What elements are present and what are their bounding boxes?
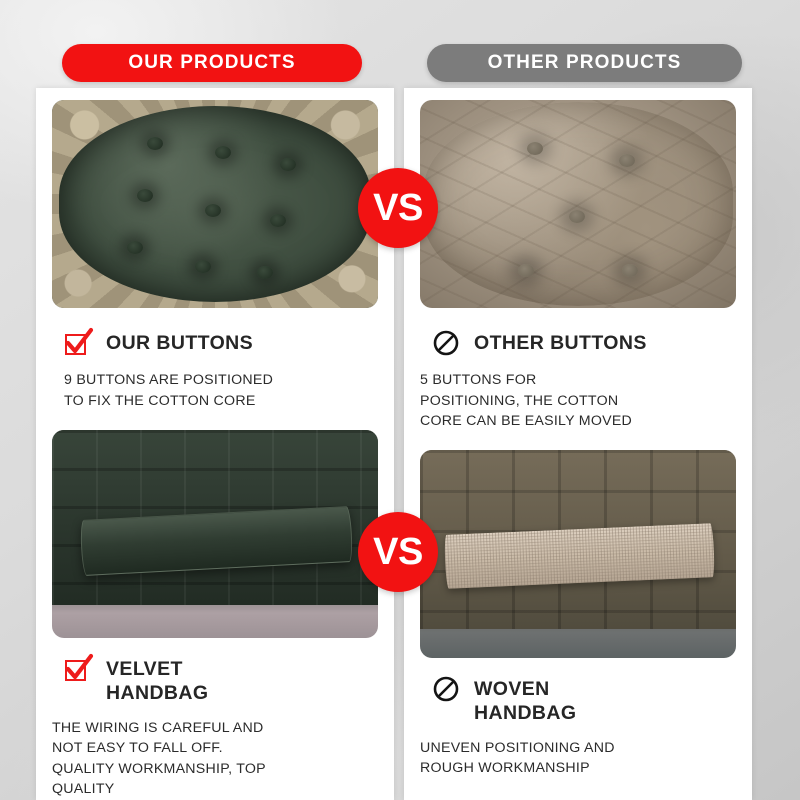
other-buttons-photo: [420, 100, 736, 308]
velvet-handbag-heading: VELVET HANDBAG: [52, 654, 378, 706]
fabric-creases: [420, 100, 736, 308]
checkbox-checked-icon: [64, 328, 94, 358]
vs-badge-bottom: VS: [358, 512, 438, 592]
woven-handbag-block: WOVEN HANDBAG UNEVEN POSITIONING AND ROU…: [420, 450, 736, 779]
our-buttons-description: 9 BUTTONS ARE POSITIONED TO FIX THE COTT…: [52, 370, 378, 411]
tuft-button-icon: [569, 210, 585, 223]
velvet-handbag-photo: [52, 430, 378, 638]
other-products-badge: OTHER PRODUCTS: [427, 44, 742, 82]
other-buttons-title: OTHER BUTTONS: [474, 328, 647, 356]
velvet-handbag-block: VELVET HANDBAG THE WIRING IS CAREFUL AND…: [52, 430, 378, 800]
other-buttons-description: 5 BUTTONS FOR POSITIONING, THE COTTON CO…: [420, 370, 736, 432]
velvet-handbag-title: VELVET HANDBAG: [106, 654, 208, 706]
other-buttons-heading: OTHER BUTTONS: [420, 328, 736, 358]
woven-handbag-photo: [420, 450, 736, 658]
woven-handbag-title: WOVEN HANDBAG: [474, 674, 576, 726]
prohibited-icon: [432, 328, 462, 358]
tuft-button-icon: [215, 146, 231, 159]
other-buttons-block: OTHER BUTTONS 5 BUTTONS FOR POSITIONING,…: [420, 100, 736, 450]
our-products-badge: OUR PRODUCTS: [62, 44, 362, 82]
woven-handbag-description: UNEVEN POSITIONING AND ROUGH WORKMANSHIP: [420, 738, 736, 779]
our-buttons-heading: OUR BUTTONS: [52, 328, 378, 358]
tuft-button-icon: [147, 137, 163, 150]
woven-handbag-heading: WOVEN HANDBAG: [420, 674, 736, 726]
our-buttons-title: OUR BUTTONS: [106, 328, 253, 356]
other-products-column: OTHER BUTTONS 5 BUTTONS FOR POSITIONING,…: [404, 88, 752, 800]
our-buttons-block: OUR BUTTONS 9 BUTTONS ARE POSITIONED TO …: [52, 100, 378, 430]
our-buttons-photo: [52, 100, 378, 308]
our-products-column: OUR BUTTONS 9 BUTTONS ARE POSITIONED TO …: [36, 88, 394, 800]
prohibited-icon: [432, 674, 462, 704]
velvet-handbag-description: THE WIRING IS CAREFUL AND NOT EASY TO FA…: [52, 718, 378, 800]
tuft-button-icon: [527, 142, 543, 155]
vs-badge-top: VS: [358, 168, 438, 248]
comparison-infographic: OUR PRODUCTS OTHER PRODUCTS: [0, 0, 800, 800]
checkbox-checked-icon: [64, 654, 94, 684]
